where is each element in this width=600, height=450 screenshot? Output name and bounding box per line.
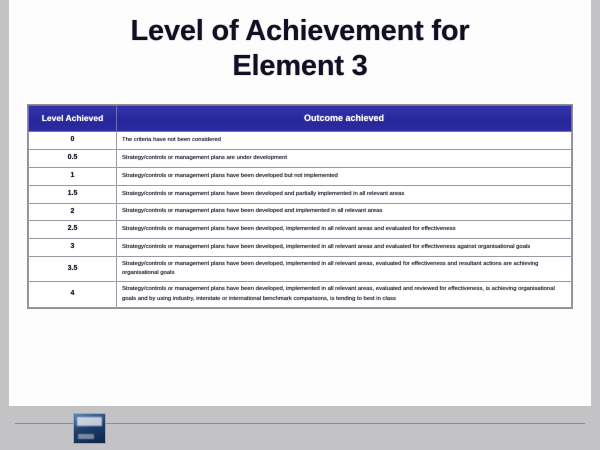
cell-outcome: Strategy/controls or management plans ha… bbox=[117, 282, 572, 307]
achievement-table: Level Achieved Outcome achieved 0 The cr… bbox=[28, 105, 572, 308]
slide-left-gutter bbox=[0, 0, 9, 450]
cell-level: 0 bbox=[29, 132, 117, 150]
table-row: 2 Strategy/controls or management plans … bbox=[29, 203, 572, 221]
cell-outcome: Strategy/controls or management plans ha… bbox=[117, 185, 572, 203]
cell-outcome: Strategy/controls or management plans ar… bbox=[117, 150, 572, 168]
logo-sub-shape bbox=[78, 434, 94, 439]
cell-outcome: Strategy/controls or management plans ha… bbox=[117, 167, 572, 185]
cell-outcome: Strategy/controls or management plans ha… bbox=[117, 203, 572, 221]
achievement-table-container: Level Achieved Outcome achieved 0 The cr… bbox=[27, 104, 573, 309]
cell-outcome: Strategy/controls or management plans ha… bbox=[117, 239, 572, 257]
cell-level: 3.5 bbox=[29, 257, 117, 282]
table-row: 2.5 Strategy/controls or management plan… bbox=[29, 221, 572, 239]
slide-footer bbox=[9, 406, 591, 450]
slide-title-line-2: Element 3 bbox=[40, 49, 560, 84]
cell-level: 2 bbox=[29, 203, 117, 221]
slide-title: Level of Achievement for Element 3 bbox=[40, 14, 560, 84]
column-header-outcome: Outcome achieved bbox=[117, 106, 572, 132]
cell-level: 3 bbox=[29, 239, 117, 257]
cell-level: 0.5 bbox=[29, 150, 117, 168]
slide-title-line-1: Level of Achievement for bbox=[40, 14, 560, 49]
table-header-row: Level Achieved Outcome achieved bbox=[29, 106, 572, 132]
cell-level: 1 bbox=[29, 167, 117, 185]
cell-level: 4 bbox=[29, 282, 117, 307]
table-row: 3.5 Strategy/controls or management plan… bbox=[29, 257, 572, 282]
table-row: 1.5 Strategy/controls or management plan… bbox=[29, 185, 572, 203]
cell-outcome: The criteria have not been considered bbox=[117, 132, 572, 150]
cell-outcome: Strategy/controls or management plans ha… bbox=[117, 221, 572, 239]
logo-mark-shape bbox=[77, 417, 102, 426]
table-row: 0 The criteria have not been considered bbox=[29, 132, 572, 150]
table-row: 3 Strategy/controls or management plans … bbox=[29, 239, 572, 257]
column-header-level: Level Achieved bbox=[29, 106, 117, 132]
table-header: Level Achieved Outcome achieved bbox=[29, 106, 572, 132]
table-row: 1 Strategy/controls or management plans … bbox=[29, 167, 572, 185]
table-body: 0 The criteria have not been considered … bbox=[29, 132, 572, 307]
table-row: 4 Strategy/controls or management plans … bbox=[29, 282, 572, 307]
cell-outcome: Strategy/controls or management plans ha… bbox=[117, 257, 572, 282]
cell-level: 1.5 bbox=[29, 185, 117, 203]
cell-level: 2.5 bbox=[29, 221, 117, 239]
slide-canvas: Level of Achievement for Element 3 Level… bbox=[0, 0, 600, 450]
table-row: 0.5 Strategy/controls or management plan… bbox=[29, 150, 572, 168]
slide-right-gutter bbox=[591, 0, 600, 450]
organisation-logo-icon bbox=[73, 413, 106, 444]
